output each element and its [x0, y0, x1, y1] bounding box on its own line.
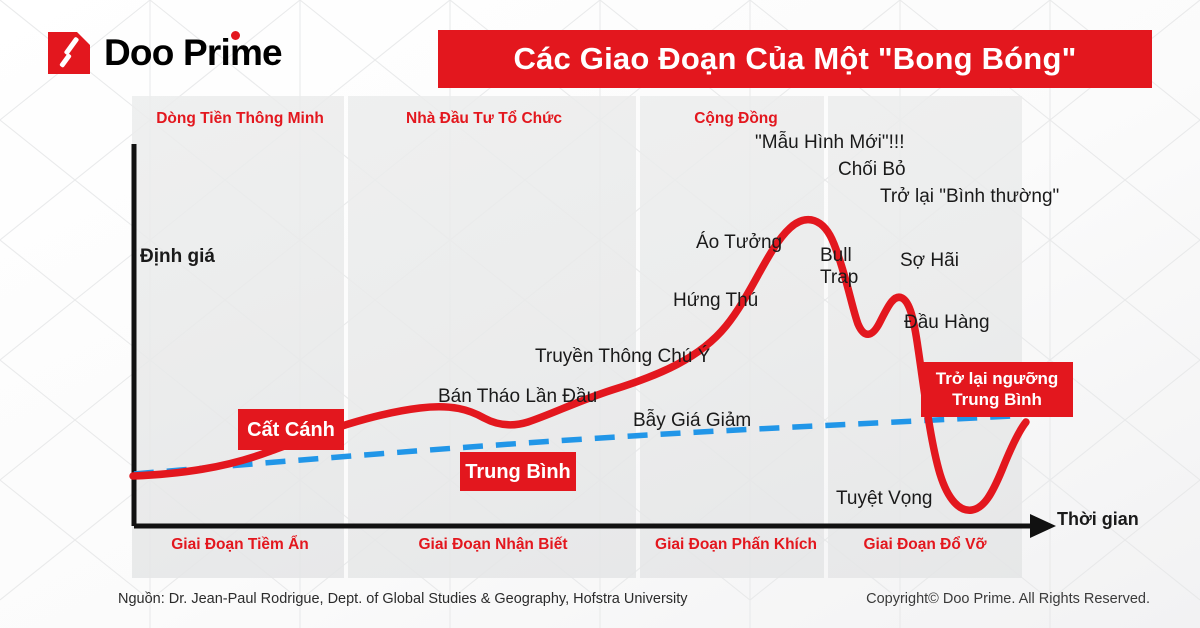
brand-logo-text: Doo Prime: [104, 32, 282, 74]
phase-top-label-3: Cộng Đồng: [596, 110, 876, 128]
logo-accent-dot-icon: [231, 31, 240, 40]
annotation-enthusiasm: Hứng Thú: [673, 290, 758, 312]
annotation-first-selloff: Bán Tháo Lần Đầu: [438, 386, 597, 408]
phase-bottom-label-2: Giai Đoạn Nhận Biết: [353, 536, 633, 554]
phase-top-label-1: Dòng Tiền Thông Minh: [100, 110, 380, 128]
annotation-bear-trap: Bẫy Giá Giảm: [633, 410, 751, 432]
x-axis-label: Thời gian: [1057, 509, 1139, 530]
callout-take-off: Cất Cánh: [238, 409, 344, 450]
annotation-capitulation: Đầu Hàng: [904, 312, 990, 334]
annotation-fear: Sợ Hãi: [900, 250, 959, 272]
phase-bottom-label-4: Giai Đoạn Đổ Vỡ: [785, 536, 1065, 554]
annotation-delusion: Áo Tưởng: [696, 232, 782, 254]
phase-top-label-2: Nhà Đầu Tư Tổ Chức: [344, 110, 624, 128]
phase-bottom-label-1: Giai Đoạn Tiềm Ẩn: [100, 536, 380, 554]
callout-mean-label: Trung Bình: [465, 460, 571, 484]
annotation-new-paradigm: "Mẫu Hình Mới"!!!: [755, 132, 905, 154]
callout-return-to-mean: Trở lại ngưỡng Trung Bình: [921, 362, 1073, 417]
brand-logo-label: Doo Prime: [104, 32, 282, 73]
source-citation: Nguồn: Dr. Jean-Paul Rodrigue, Dept. of …: [118, 591, 688, 607]
copyright-notice: Copyright© Doo Prime. All Rights Reserve…: [866, 591, 1150, 607]
bubble-stages-chart: Dòng Tiền Thông Minh Nhà Đầu Tư Tổ Chức …: [0, 96, 1200, 578]
doo-prime-mark-icon: [48, 32, 90, 74]
annotation-media-attention: Truyền Thông Chú Ý: [535, 346, 710, 368]
page-header: Doo Prime Các Giao Đoạn Của Một "Bong Bó…: [0, 0, 1200, 96]
y-axis-label: Định giá: [140, 246, 215, 268]
chart-plot: [0, 96, 1200, 578]
x-axis-arrow-icon: [1030, 514, 1056, 538]
callout-return-to-mean-line1: Trở lại ngưỡng: [936, 369, 1058, 389]
callout-return-to-mean-line2: Trung Bình: [952, 390, 1042, 410]
brand-logo[interactable]: Doo Prime: [48, 32, 282, 74]
annotation-bull-trap: Bull Trap: [820, 245, 858, 290]
annotation-despair: Tuyệt Vọng: [836, 488, 932, 510]
page-footer: Nguồn: Dr. Jean-Paul Rodrigue, Dept. of …: [0, 578, 1200, 628]
annotation-return-normal: Trở lại "Bình thường": [880, 186, 1059, 208]
page-title: Các Giao Đoạn Của Một "Bong Bóng": [514, 41, 1077, 77]
infographic-canvas: Doo Prime Các Giao Đoạn Của Một "Bong Bó…: [0, 0, 1200, 628]
annotation-denial: Chối Bỏ: [838, 159, 906, 181]
title-banner: Các Giao Đoạn Của Một "Bong Bóng": [438, 30, 1152, 88]
callout-mean: Trung Bình: [460, 452, 576, 491]
callout-take-off-label: Cất Cánh: [247, 418, 335, 442]
